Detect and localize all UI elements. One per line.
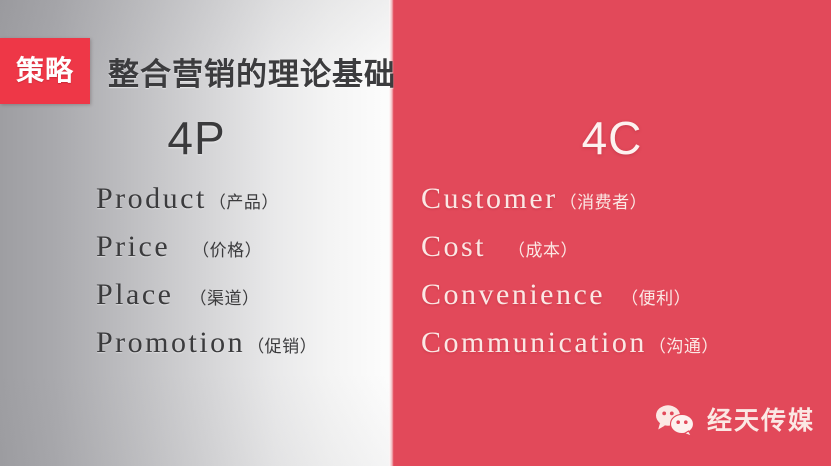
wechat-icon bbox=[655, 404, 697, 438]
strategy-badge: 策略 bbox=[0, 38, 90, 104]
term-chinese: （沟通） bbox=[649, 338, 719, 355]
list-item: Place （渠道） bbox=[96, 280, 317, 328]
list-item: Communication （沟通） bbox=[421, 328, 719, 376]
term-list-4p: Product （产品） Price （价格） Place （渠道） Promo… bbox=[96, 184, 317, 376]
list-item: Customer （消费者） bbox=[421, 184, 719, 232]
term-chinese: （消费者） bbox=[560, 194, 648, 211]
heading-4c: 4C bbox=[393, 115, 831, 161]
term-chinese: （便利） bbox=[621, 290, 691, 307]
term-chinese: （促销） bbox=[247, 338, 317, 355]
term-english: Price bbox=[96, 232, 170, 262]
slide-header: 策略 整合营销的理论基础 bbox=[0, 38, 396, 104]
heading-4p: 4P bbox=[0, 115, 393, 161]
list-item: Product （产品） bbox=[96, 184, 317, 232]
term-list-4c: Customer （消费者） Cost （成本） Convenience （便利… bbox=[421, 184, 719, 376]
term-chinese: （成本） bbox=[508, 242, 578, 259]
term-english: Convenience bbox=[421, 280, 605, 310]
slide-canvas: 策略 整合营销的理论基础 4P 4C Product （产品） Price （价… bbox=[0, 0, 831, 466]
watermark-label: 经天传媒 bbox=[707, 409, 815, 434]
term-english: Customer bbox=[421, 184, 558, 214]
page-title: 整合营销的理论基础 bbox=[108, 49, 396, 94]
term-chinese: （产品） bbox=[209, 194, 279, 211]
list-item: Cost （成本） bbox=[421, 232, 719, 280]
list-item: Price （价格） bbox=[96, 232, 317, 280]
term-english: Place bbox=[96, 280, 173, 310]
term-english: Communication bbox=[421, 328, 647, 358]
term-chinese: （渠道） bbox=[189, 290, 259, 307]
list-item: Convenience （便利） bbox=[421, 280, 719, 328]
term-english: Cost bbox=[421, 232, 486, 262]
watermark: 经天传媒 bbox=[655, 404, 815, 438]
term-english: Promotion bbox=[96, 328, 245, 358]
term-chinese: （价格） bbox=[192, 242, 262, 259]
term-english: Product bbox=[96, 184, 207, 214]
list-item: Promotion （促销） bbox=[96, 328, 317, 376]
strategy-badge-label: 策略 bbox=[16, 57, 74, 85]
